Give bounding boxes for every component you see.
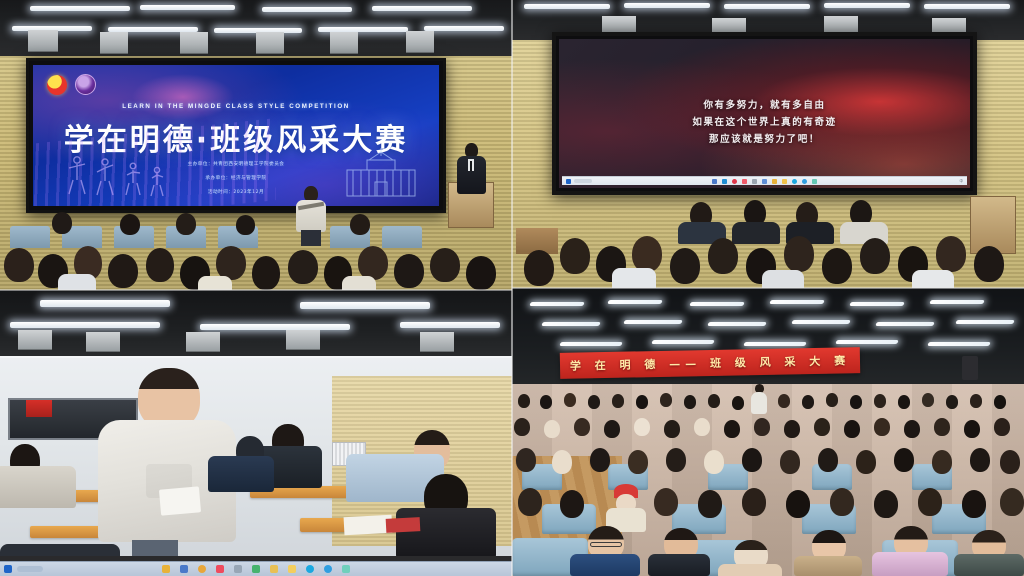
audience-head	[822, 248, 852, 284]
audience-head	[358, 246, 388, 280]
heart-icon[interactable]	[742, 179, 747, 184]
ceiling-light	[927, 342, 991, 346]
event-banner-text: 学 在 明 德 —— 班 级 风 采 大 赛	[570, 352, 851, 373]
audience-head	[670, 248, 700, 284]
search-input[interactable]	[17, 566, 43, 572]
mail-icon[interactable]	[252, 565, 260, 573]
audience-head	[970, 448, 990, 472]
minus-icon[interactable]	[752, 179, 757, 184]
windows-taskbar-q2[interactable]: 中	[562, 176, 967, 185]
ceiling-duct	[256, 32, 284, 54]
audience-head	[802, 395, 814, 409]
audience-head	[850, 395, 862, 409]
crowd-row-foreground	[512, 526, 1024, 576]
audience-head	[120, 214, 140, 235]
slide-motivational-quote: 你有多努力，就有多自由 如果在这个世界上真的有奇迹 那应该就是努力了吧！	[559, 39, 970, 188]
audience-head	[780, 450, 800, 474]
red-book	[386, 517, 421, 533]
mail-icon[interactable]	[762, 179, 767, 184]
ceiling-light	[607, 300, 663, 304]
audience-head	[146, 248, 174, 282]
audience-head	[4, 248, 34, 282]
qq-icon[interactable]	[324, 565, 332, 573]
explorer-icon[interactable]	[712, 179, 717, 184]
audience-head	[830, 488, 854, 516]
wechat-icon[interactable]	[306, 565, 314, 573]
star-icon[interactable]	[288, 565, 296, 573]
ceiling-light	[200, 324, 350, 330]
audience-head	[252, 256, 280, 290]
audience-head-masked	[694, 418, 710, 436]
audience-head	[588, 395, 600, 409]
audience-head	[732, 396, 744, 410]
collage-horizontal-seam-left	[0, 289, 512, 291]
audience-head	[288, 250, 318, 284]
ceiling-duct	[420, 332, 454, 352]
audience-head	[590, 448, 610, 472]
ceiling-duct	[18, 330, 52, 350]
start-icon[interactable]	[4, 565, 12, 573]
audience-head	[874, 394, 886, 408]
audience-head	[874, 418, 890, 436]
media-icon[interactable]	[198, 565, 206, 573]
audience-head	[628, 450, 648, 474]
audience-head	[974, 246, 1004, 282]
audience-female-student	[794, 530, 862, 576]
windows-taskbar-q3[interactable]	[0, 561, 512, 576]
audience-head	[904, 420, 920, 438]
standing-student-trousers	[132, 540, 178, 556]
audience-head	[236, 215, 255, 235]
audience-head	[742, 448, 762, 472]
audience-head	[934, 418, 950, 436]
ceiling-light	[724, 4, 810, 9]
slide-opening-title: LEARN IN THE MINGDE CLASS STYLE COMPETIT…	[33, 65, 439, 206]
seated-student-left	[0, 444, 84, 508]
projected-classroom-photo	[0, 356, 512, 556]
campus-building-graphic	[339, 146, 423, 200]
ceiling-light	[624, 3, 710, 8]
panel-bottom-right-auditorium: 学 在 明 德 —— 班 级 风 采 大 赛	[512, 288, 1024, 576]
audience-head	[1000, 450, 1020, 474]
folder-icon[interactable]	[772, 179, 777, 184]
audience-head	[612, 394, 624, 408]
audience-head	[936, 236, 966, 272]
national-flag-icon	[26, 400, 52, 417]
qq-icon[interactable]	[802, 179, 807, 184]
audience-head	[874, 490, 898, 518]
audience-head	[826, 393, 838, 407]
quote-line-2: 如果在这个世界上真的有奇迹	[559, 114, 970, 128]
audience-right-student	[954, 530, 1024, 576]
seated-student-navy	[206, 436, 280, 492]
audience-head	[216, 246, 246, 280]
slide-english-subtitle: LEARN IN THE MINGDE CLASS STYLE COMPETIT…	[33, 103, 439, 110]
audience-jacket	[954, 554, 1024, 576]
crowd-row-1	[512, 390, 1024, 416]
audience-male-student	[648, 528, 710, 576]
audience-head	[540, 395, 552, 409]
ceiling-light	[372, 6, 472, 11]
ceiling-light	[623, 320, 683, 324]
taskbar-tray[interactable]: 中	[960, 179, 964, 184]
panel-top-right-motivational-slide: 你有多努力，就有多自由 如果在这个世界上真的有奇迹 那应该就是努力了吧！	[512, 0, 1024, 290]
ceiling-light	[924, 4, 1010, 9]
speaker-tie	[470, 161, 472, 171]
audience-head	[784, 420, 800, 438]
ceiling-light	[559, 342, 623, 346]
seated-student-jacket	[208, 456, 274, 492]
start-icon[interactable]	[566, 179, 571, 184]
audience-head	[108, 254, 138, 288]
audience-head	[1000, 488, 1024, 516]
audience-coat	[198, 276, 232, 290]
collage-horizontal-seam-right	[512, 287, 1024, 289]
ceiling-light	[140, 5, 235, 10]
led-screen-q1: LEARN IN THE MINGDE CLASS STYLE COMPETIT…	[26, 58, 446, 213]
audience-head	[898, 395, 910, 409]
quote-line-3: 那应该就是努力了吧！	[559, 131, 970, 145]
audience-head	[964, 420, 980, 438]
audience-head	[574, 418, 590, 436]
audience-head-masked	[552, 450, 572, 474]
audience-head	[430, 248, 460, 282]
ceiling-duct	[180, 32, 208, 54]
audience-glasses-student	[570, 526, 640, 576]
audience-head	[786, 490, 810, 518]
ceiling-duct	[286, 330, 320, 350]
audience-head	[350, 214, 370, 235]
foreground-bag	[0, 544, 120, 556]
audience-head	[564, 393, 576, 407]
ceiling-duct	[100, 32, 128, 54]
audience-row-front	[0, 238, 512, 290]
audience-coat	[342, 276, 376, 290]
audience-head	[632, 236, 662, 272]
seated-student-foreground	[396, 474, 496, 556]
audience-head	[664, 420, 680, 438]
audience-head	[932, 450, 952, 474]
audience-head	[560, 490, 584, 518]
audience-head	[856, 450, 876, 474]
ceiling-light	[689, 302, 745, 306]
glasses-icon	[590, 542, 622, 547]
communist-youth-league-emblem-icon	[47, 75, 67, 95]
audience-head	[636, 395, 648, 409]
ceiling-light	[300, 302, 430, 309]
ceiling-light	[707, 322, 767, 326]
ceiling-light	[10, 322, 160, 328]
audience-head	[516, 448, 536, 472]
audience-jacket	[648, 554, 710, 576]
audience-coat	[872, 552, 948, 576]
edge-icon[interactable]	[722, 179, 727, 184]
seated-student-coat	[0, 466, 76, 508]
audience-head	[666, 448, 686, 472]
audience-head-masked	[544, 420, 560, 438]
audience-head	[524, 250, 554, 286]
audience-head	[708, 394, 720, 408]
ceiling-light	[835, 340, 899, 344]
audience-head	[742, 488, 766, 516]
folder-icon[interactable]	[270, 565, 278, 573]
audience-head	[52, 212, 72, 234]
ceiling-light	[529, 302, 585, 306]
audience-head	[560, 238, 590, 274]
wall-speaker	[962, 356, 978, 380]
audience-head	[784, 236, 814, 272]
audience-head	[922, 393, 934, 407]
audience-head	[918, 488, 942, 516]
explorer-icon[interactable]	[180, 565, 188, 573]
ceiling-duct	[330, 32, 358, 54]
audience-red-cap-student	[606, 484, 646, 532]
ceiling-light	[824, 3, 910, 8]
audience-head	[518, 488, 542, 516]
audience-jacket	[570, 554, 640, 576]
audience-coat	[718, 564, 782, 576]
led-screen-q2: 你有多努力，就有多自由 如果在这个世界上真的有奇迹 那应该就是努力了吧！	[552, 32, 977, 195]
heart-icon[interactable]	[216, 565, 224, 573]
celebration-silhouettes-graphic	[47, 150, 187, 202]
audience-head-masked	[704, 450, 724, 474]
audience-head	[654, 488, 678, 516]
ceiling-light	[955, 320, 1015, 324]
audience-head-masked	[634, 418, 650, 436]
audience-head	[660, 393, 672, 407]
panel-top-left-opening-ceremony: LEARN IN THE MINGDE CLASS STYLE COMPETIT…	[0, 0, 512, 290]
crowd-row-2	[512, 414, 1024, 448]
audience-row-front-q2	[512, 228, 1024, 290]
ceiling-light	[524, 4, 610, 9]
audience-head	[684, 395, 696, 409]
audience-head	[778, 394, 790, 408]
tray-ime-text: 中	[960, 179, 964, 184]
star-icon[interactable]	[782, 179, 787, 184]
ceiling-light	[743, 342, 807, 346]
audience-coat	[58, 274, 96, 290]
ceiling-duct	[86, 332, 120, 352]
audience-head	[698, 490, 722, 518]
audience-head	[724, 420, 740, 438]
app-icon[interactable]	[342, 565, 350, 573]
ceiling-light	[791, 320, 851, 324]
ceiling-duct	[28, 30, 58, 52]
photo-collage: LEARN IN THE MINGDE CLASS STYLE COMPETIT…	[0, 0, 1024, 576]
ceiling-light	[424, 26, 504, 31]
ceiling-light	[849, 302, 905, 306]
taskbar-left-group-q3[interactable]	[4, 565, 43, 573]
audience-head	[394, 254, 424, 288]
audience-head	[518, 394, 530, 408]
widgets-icon[interactable]	[162, 565, 170, 573]
audience-head	[814, 418, 830, 436]
audience-pink-coat-student	[872, 526, 948, 576]
ceiling-light	[769, 300, 825, 304]
ceiling-duct	[186, 332, 220, 352]
panel-bottom-left-classroom	[0, 290, 512, 576]
audience-head	[994, 418, 1010, 436]
ceiling-light	[262, 7, 352, 12]
audience-coat	[794, 556, 862, 576]
mingde-university-seal-icon	[75, 74, 96, 95]
ceiling-light	[875, 322, 935, 326]
audience-head	[844, 420, 860, 438]
audience-head	[604, 420, 620, 438]
audience-head	[994, 395, 1006, 409]
taskbar-left-group[interactable]	[566, 179, 592, 184]
app-icon[interactable]	[812, 179, 817, 184]
ceiling-light	[929, 300, 985, 304]
search-input[interactable]	[574, 179, 592, 183]
audience-head	[946, 395, 958, 409]
audience-head	[708, 238, 738, 274]
audience-head	[970, 394, 982, 408]
ceiling-light	[651, 340, 715, 344]
speaker-in-suit	[456, 143, 486, 193]
audience-head	[894, 448, 914, 472]
quote-line-1: 你有多努力，就有多自由	[559, 97, 970, 111]
audience-head	[818, 448, 838, 472]
audience-masked-student	[718, 540, 782, 576]
ceiling-light	[40, 300, 170, 307]
ceiling-light	[541, 322, 601, 326]
ceiling-light	[400, 322, 500, 328]
audience-head	[176, 213, 196, 235]
held-paper	[159, 486, 201, 515]
ceiling-duct	[406, 31, 434, 53]
wechat-icon[interactable]	[792, 179, 797, 184]
audience-head	[754, 418, 770, 436]
audience-head	[466, 256, 496, 290]
minus-icon[interactable]	[234, 565, 242, 573]
media-icon[interactable]	[732, 179, 737, 184]
ceiling-light	[30, 6, 130, 11]
audience-head	[860, 238, 890, 274]
audience-head	[514, 418, 530, 436]
seated-student-jacket	[396, 508, 496, 556]
audience-head	[962, 490, 986, 518]
